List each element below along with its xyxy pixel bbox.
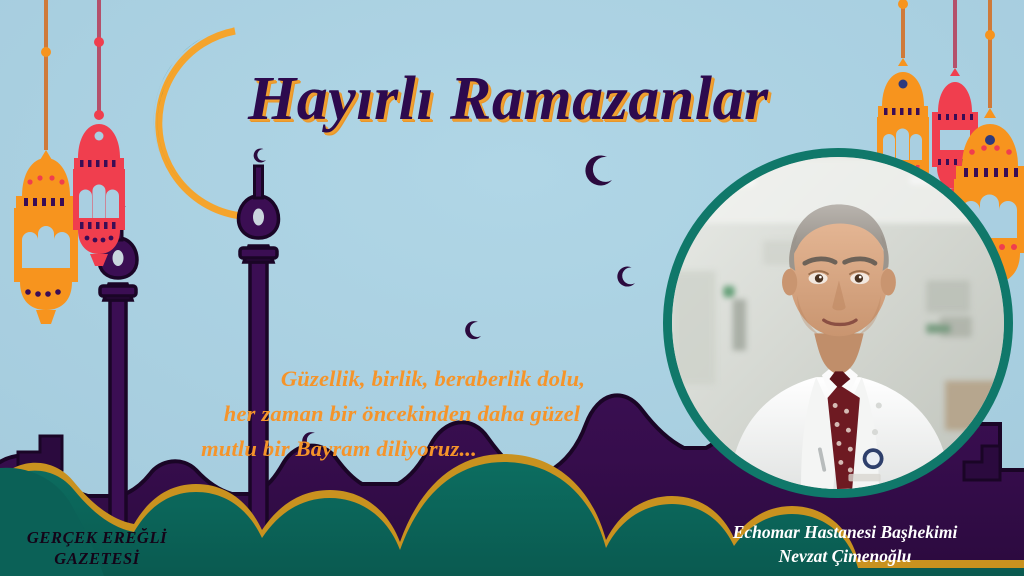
message-line-2: her zaman bir öncekinden daha güzel — [120, 397, 668, 432]
signature-caption: Echomar Hastanesi Başhekimi Nevzat Çimen… — [690, 521, 1000, 568]
doctor-portrait — [663, 148, 1013, 498]
page-title: Hayırlı Ramazanlar — [248, 68, 848, 130]
doctor-portrait-photo — [672, 157, 1004, 489]
logo-line-2: GAZETESİ — [2, 548, 192, 569]
ramadan-greeting-poster: Hayırlı Ramazanlar Güzellik, birlik, ber… — [0, 0, 1024, 576]
message-line-3: mutlu bir Bayram diliyoruz... — [120, 432, 668, 467]
caption-line-2: Nevzat Çimenoğlu — [690, 545, 1000, 569]
message-line-1: Güzellik, birlik, beraberlik dolu, — [120, 362, 668, 397]
caption-line-1: Echomar Hastanesi Başhekimi — [690, 521, 1000, 545]
newspaper-logo: GERÇEK EREĞLİ GAZETESİ — [2, 527, 192, 569]
portrait-image — [672, 157, 1004, 489]
logo-line-1: GERÇEK EREĞLİ — [2, 527, 192, 548]
greeting-message: Güzellik, birlik, beraberlik dolu, her z… — [120, 362, 668, 467]
